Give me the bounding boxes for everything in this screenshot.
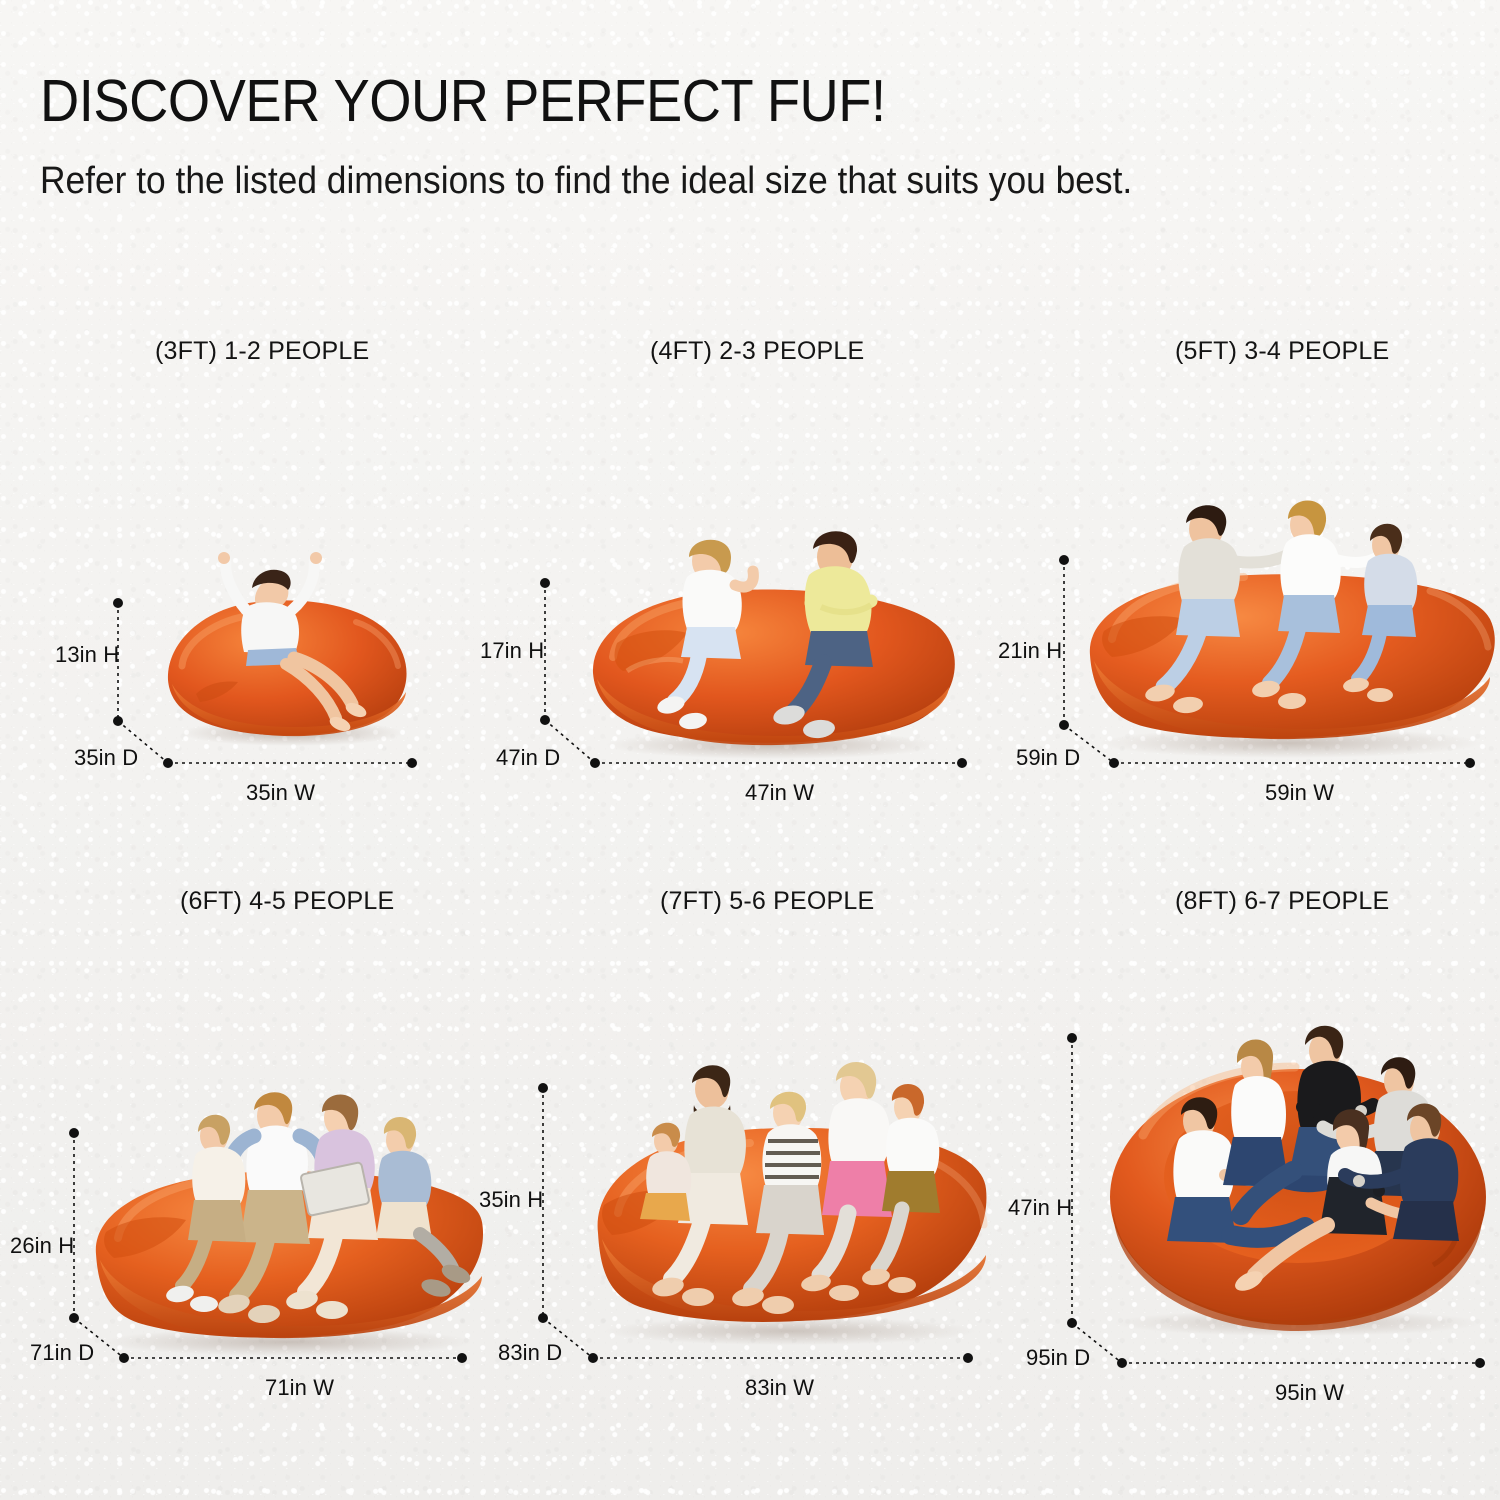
product-caption-8ft: (8FT) 6-7 PEOPLE [1175, 887, 1389, 916]
dimension-width-8ft: 95in W [1275, 1380, 1344, 1406]
dimension-depth-5ft: 59in D [1016, 745, 1080, 771]
product-caption-6ft: (6FT) 4-5 PEOPLE [180, 887, 394, 916]
product-caption-3ft: (3FT) 1-2 PEOPLE [155, 337, 369, 366]
product-card-3ft[interactable]: (3FT) 1-2 PEOPLE [0, 320, 500, 820]
beanbag-illustration-4ft [583, 575, 963, 755]
dimension-width-5ft: 59in W [1265, 780, 1334, 806]
beanbag-illustration-6ft [88, 1138, 488, 1353]
product-caption-5ft: (5FT) 3-4 PEOPLE [1175, 337, 1389, 366]
product-card-6ft[interactable]: (6FT) 4-5 PEOPLE [0, 875, 510, 1415]
dimension-height-3ft: 13in H [55, 642, 119, 668]
dimension-width-7ft: 83in W [745, 1375, 814, 1401]
dimension-depth-7ft: 83in D [498, 1340, 562, 1366]
product-card-4ft[interactable]: (4FT) 2-3 PEOPLE [490, 320, 1000, 820]
dimension-height-8ft: 47in H [1008, 1195, 1072, 1221]
beanbag-illustration-7ft [590, 1093, 990, 1343]
dimension-height-6ft: 26in H [10, 1233, 74, 1259]
dimension-width-4ft: 47in W [745, 780, 814, 806]
product-caption-4ft: (4FT) 2-3 PEOPLE [650, 337, 864, 366]
product-card-7ft[interactable]: (7FT) 5-6 PEOPLE [490, 875, 1000, 1415]
dimension-height-4ft: 17in H [480, 638, 544, 664]
dimension-depth-6ft: 71in D [30, 1340, 94, 1366]
dimension-depth-8ft: 95in D [1026, 1345, 1090, 1371]
beanbag-illustration-3ft [160, 592, 420, 742]
product-card-8ft[interactable]: (8FT) 6-7 PEOPLE [990, 875, 1500, 1415]
dimension-depth-3ft: 35in D [74, 745, 138, 771]
product-caption-7ft: (7FT) 5-6 PEOPLE [660, 887, 874, 916]
dimension-width-6ft: 71in W [265, 1375, 334, 1401]
beanbag-illustration-8ft [1103, 1025, 1493, 1335]
product-card-5ft[interactable]: (5FT) 3-4 PEOPLE [990, 320, 1500, 820]
page-subtitle: Refer to the listed dimensions to find t… [40, 155, 1268, 207]
header-block: DISCOVER YOUR PERFECT FUF! Refer to the … [40, 72, 1360, 207]
dimension-depth-4ft: 47in D [496, 745, 560, 771]
beanbag-illustration-5ft [1080, 535, 1500, 755]
dimension-height-5ft: 21in H [998, 638, 1062, 664]
dimension-width-3ft: 35in W [246, 780, 315, 806]
page-title: DISCOVER YOUR PERFECT FUF! [40, 72, 1254, 131]
